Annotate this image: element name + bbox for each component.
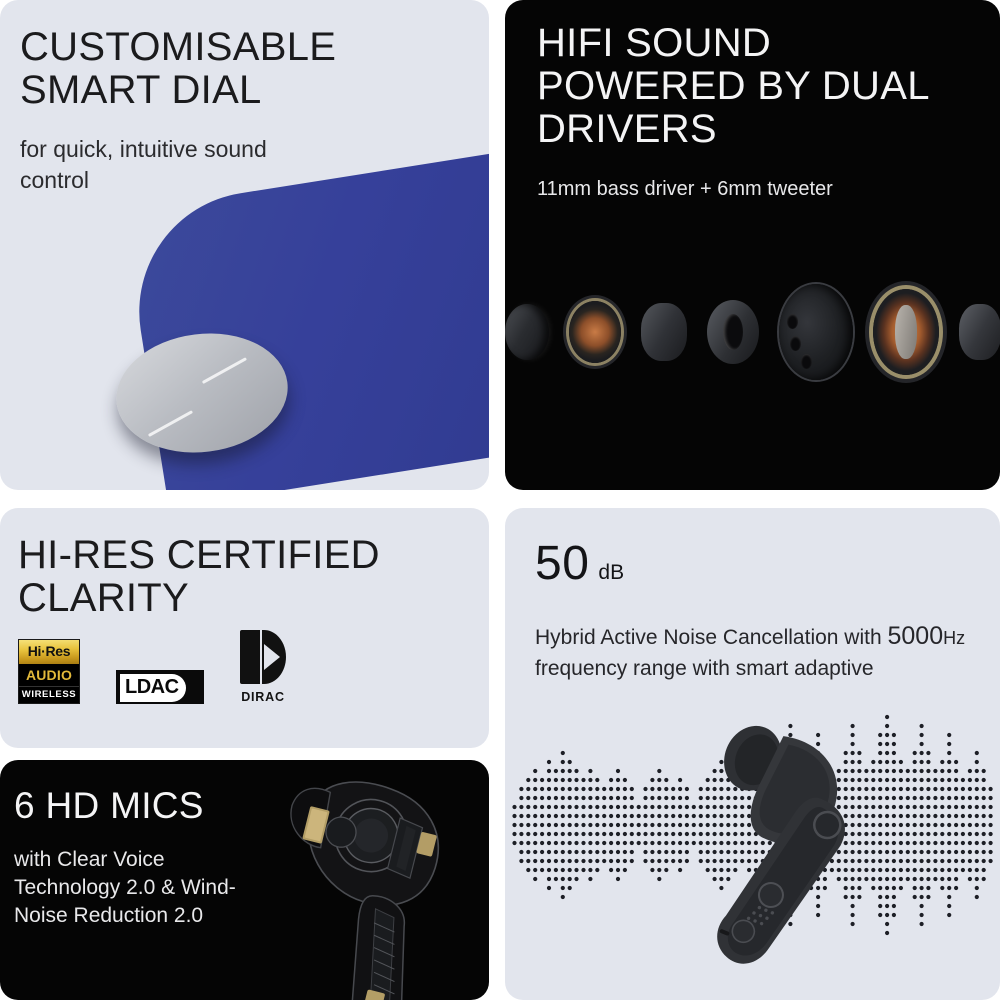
hires-text-block: HI-RES CERTIFIED CLARITY: [18, 534, 468, 620]
feature-grid: CUSTOMISABLE SMART DIAL for quick, intui…: [0, 0, 1000, 1000]
bass-magnet-icon: [959, 304, 1000, 360]
dirac-badge-label: DIRAC: [241, 690, 285, 704]
anc-frequency-unit: Hz: [943, 628, 965, 648]
bass-diaphragm-dome-icon: [779, 284, 853, 380]
ldac-badge: LDAC: [116, 670, 204, 704]
mics-text-block: 6 HD MICS with Clear Voice Technology 2.…: [14, 786, 304, 930]
tweeter-voice-coil-icon: [569, 301, 621, 363]
anc-description-part1: Hybrid Active Noise Cancellation with: [535, 626, 888, 649]
hifi-subtext: 11mm bass driver + 6mm tweeter: [537, 176, 987, 203]
tweeter-magnet-cap-icon: [641, 303, 687, 361]
anc-stat: 50 dB: [535, 536, 975, 591]
anc-stat-unit: dB: [598, 561, 624, 585]
ldac-badge-label: LDAC: [118, 676, 179, 699]
hires-badge-line2: AUDIO: [19, 664, 79, 686]
certification-badges: Hi·Res AUDIO WIRELESS LDAC DIRAC: [18, 630, 286, 704]
mics-subtext: with Clear Voice Technology 2.0 & Wind- …: [14, 846, 304, 930]
dirac-logo-icon: [240, 630, 286, 684]
anc-text-block: 50 dB Hybrid Active Noise Cancellation w…: [535, 536, 975, 683]
hires-headline: HI-RES CERTIFIED CLARITY: [18, 534, 468, 620]
hifi-text-block: HIFI SOUND POWERED BY DUAL DRIVERS 11mm …: [537, 22, 987, 202]
hires-badge-line3: WIRELESS: [19, 686, 79, 703]
dirac-badge: DIRAC: [240, 630, 286, 704]
dial-engraving-mark: [202, 357, 247, 384]
spacer-ring-icon: [707, 300, 759, 364]
dial-engraving-mark: [148, 410, 193, 437]
bass-voice-coil-icon: [873, 289, 939, 375]
hires-badge-line1: Hi·Res: [19, 640, 79, 664]
driver-exploded-view: [505, 272, 1000, 392]
panel-active-noise-cancellation: 50 dB Hybrid Active Noise Cancellation w…: [505, 508, 1000, 1000]
page-title: CUSTOMISABLE SMART DIAL: [20, 26, 460, 112]
anc-description: Hybrid Active Noise Cancellation with 50…: [535, 619, 975, 683]
hifi-headline: HIFI SOUND POWERED BY DUAL DRIVERS: [537, 22, 987, 152]
anc-stat-value: 50: [535, 536, 589, 591]
anc-description-part2: frequency range with smart adaptive: [535, 657, 874, 680]
mics-headline: 6 HD MICS: [14, 786, 304, 826]
smart-dial-text-block: CUSTOMISABLE SMART DIAL for quick, intui…: [20, 26, 460, 196]
panel-hi-res-certified: HI-RES CERTIFIED CLARITY Hi·Res AUDIO WI…: [0, 508, 489, 748]
panel-hifi-sound: HIFI SOUND POWERED BY DUAL DRIVERS 11mm …: [505, 0, 1000, 490]
smart-dial-subtext: for quick, intuitive sound control: [20, 134, 460, 196]
panel-customisable-smart-dial: CUSTOMISABLE SMART DIAL for quick, intui…: [0, 0, 489, 490]
anc-frequency-value: 5000: [888, 622, 944, 650]
diaphragm-plate-icon: [505, 304, 549, 360]
earbud-illustration: [650, 693, 880, 993]
panel-6-hd-mics: 6 HD MICS with Clear Voice Technology 2.…: [0, 760, 489, 1000]
hi-res-audio-wireless-badge: Hi·Res AUDIO WIRELESS: [18, 639, 80, 704]
